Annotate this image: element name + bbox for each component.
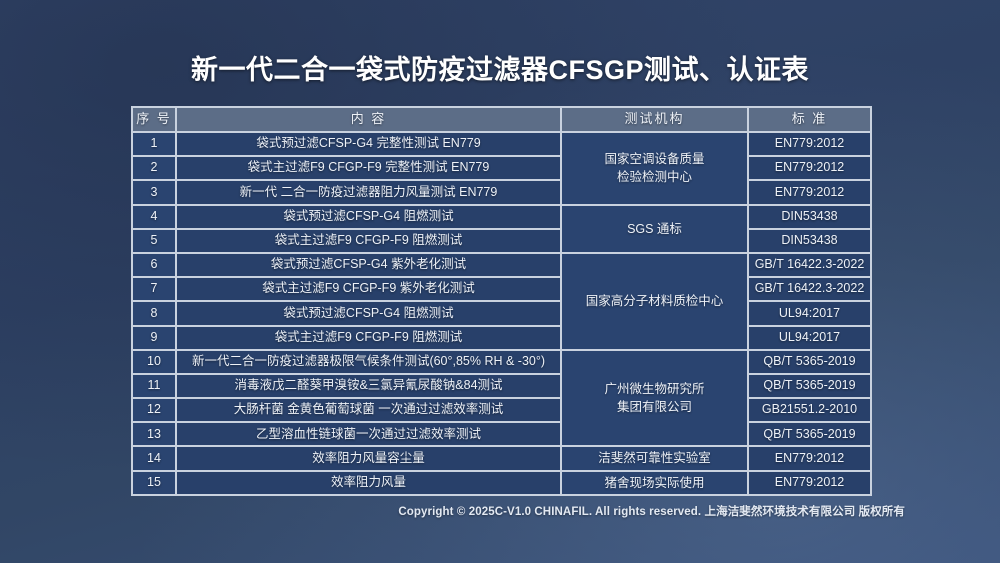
cell-standard: EN779:2012 <box>748 446 871 470</box>
organization-line-1: 国家空调设备质量 <box>604 152 704 166</box>
cell-index: 8 <box>132 301 176 325</box>
cell-standard: DIN53438 <box>748 205 871 229</box>
cell-index: 11 <box>132 374 176 398</box>
organization-line-2: 检验检测中心 <box>617 170 692 184</box>
cell-content: 袋式主过滤F9 CFGP-F9 阻燃测试 <box>176 326 561 350</box>
cell-index: 14 <box>132 446 176 470</box>
column-header-organization: 测试机构 <box>561 107 748 132</box>
organization-line-1: 广州微生物研究所 <box>604 382 704 396</box>
cell-index: 2 <box>132 156 176 180</box>
cell-content: 袋式预过滤CFSP-G4 阻燃测试 <box>176 301 561 325</box>
cell-standard: EN779:2012 <box>748 180 871 204</box>
organization-line-1: SGS 通标 <box>627 222 682 236</box>
table-row: 8袋式预过滤CFSP-G4 阻燃测试UL94:2017 <box>132 301 871 325</box>
cell-organization: 猪舍现场实际使用 <box>561 471 748 495</box>
cell-content: 袋式主过滤F9 CFGP-F9 阻燃测试 <box>176 229 561 253</box>
cell-standard: EN779:2012 <box>748 471 871 495</box>
cell-index: 15 <box>132 471 176 495</box>
table-row: 11消毒液戊二醛葵甲溴铵&三氯异氰尿酸钠&84测试QB/T 5365-2019 <box>132 374 871 398</box>
cell-standard: DIN53438 <box>748 229 871 253</box>
cell-organization: SGS 通标 <box>561 205 748 253</box>
cell-content: 袋式主过滤F9 CFGP-F9 完整性测试 EN779 <box>176 156 561 180</box>
cell-index: 1 <box>132 132 176 156</box>
cell-standard: QB/T 5365-2019 <box>748 374 871 398</box>
cell-index: 9 <box>132 326 176 350</box>
cell-standard: GB21551.2-2010 <box>748 398 871 422</box>
table-row: 5袋式主过滤F9 CFGP-F9 阻燃测试DIN53438 <box>132 229 871 253</box>
cell-index: 6 <box>132 253 176 277</box>
table-row: 3新一代 二合一防疫过滤器阻力风量测试 EN779EN779:2012 <box>132 180 871 204</box>
cell-standard: QB/T 5365-2019 <box>748 422 871 446</box>
cell-content: 新一代二合一防疫过滤器极限气候条件测试(60°,85% RH & -30°) <box>176 350 561 374</box>
column-header-standard: 标 准 <box>748 107 871 132</box>
cell-standard: UL94:2017 <box>748 301 871 325</box>
cell-content: 大肠杆菌 金黄色葡萄球菌 一次通过过滤效率测试 <box>176 398 561 422</box>
cell-organization: 国家空调设备质量检验检测中心 <box>561 132 748 205</box>
organization-line-2: 集团有限公司 <box>617 400 692 414</box>
table-row: 12大肠杆菌 金黄色葡萄球菌 一次通过过滤效率测试GB21551.2-2010 <box>132 398 871 422</box>
cell-index: 12 <box>132 398 176 422</box>
table-row: 4袋式预过滤CFSP-G4 阻燃测试SGS 通标DIN53438 <box>132 205 871 229</box>
cell-content: 袋式主过滤F9 CFGP-F9 紫外老化测试 <box>176 277 561 301</box>
cell-index: 5 <box>132 229 176 253</box>
cell-organization: 洁斐然可靠性实验室 <box>561 446 748 470</box>
copyright-footer: Copyright © 2025C-V1.0 CHINAFIL. All rig… <box>398 503 905 519</box>
column-header-index: 序 号 <box>132 107 176 132</box>
organization-line-1: 洁斐然可靠性实验室 <box>598 451 711 465</box>
certification-table-container: 序 号 内 容 测试机构 标 准 1袋式预过滤CFSP-G4 完整性测试 EN7… <box>131 106 870 496</box>
table-row: 13乙型溶血性链球菌一次通过过滤效率测试QB/T 5365-2019 <box>132 422 871 446</box>
cell-content: 效率阻力风量容尘量 <box>176 446 561 470</box>
organization-line-1: 猪舍现场实际使用 <box>604 476 704 490</box>
certification-table: 序 号 内 容 测试机构 标 准 1袋式预过滤CFSP-G4 完整性测试 EN7… <box>131 106 872 496</box>
cell-standard: UL94:2017 <box>748 326 871 350</box>
column-header-content: 内 容 <box>176 107 561 132</box>
table-header-row: 序 号 内 容 测试机构 标 准 <box>132 107 871 132</box>
cell-standard: GB/T 16422.3-2022 <box>748 277 871 301</box>
cell-index: 10 <box>132 350 176 374</box>
cell-index: 4 <box>132 205 176 229</box>
page-title: 新一代二合一袋式防疫过滤器CFSGP测试、认证表 <box>0 48 1000 87</box>
table-row: 9袋式主过滤F9 CFGP-F9 阻燃测试UL94:2017 <box>132 326 871 350</box>
cell-index: 3 <box>132 180 176 204</box>
table-row: 2袋式主过滤F9 CFGP-F9 完整性测试 EN779EN779:2012 <box>132 156 871 180</box>
cell-content: 袋式预过滤CFSP-G4 完整性测试 EN779 <box>176 132 561 156</box>
organization-line-1: 国家高分子材料质检中心 <box>586 294 724 308</box>
cell-content: 袋式预过滤CFSP-G4 紫外老化测试 <box>176 253 561 277</box>
table-row: 1袋式预过滤CFSP-G4 完整性测试 EN779国家空调设备质量检验检测中心E… <box>132 132 871 156</box>
cell-content: 效率阻力风量 <box>176 471 561 495</box>
cell-organization: 国家高分子材料质检中心 <box>561 253 748 350</box>
slide-background: 新一代二合一袋式防疫过滤器CFSGP测试、认证表 序 号 内 容 测试机构 标 … <box>0 0 1000 563</box>
table-row: 14效率阻力风量容尘量洁斐然可靠性实验室EN779:2012 <box>132 446 871 470</box>
cell-content: 新一代 二合一防疫过滤器阻力风量测试 EN779 <box>176 180 561 204</box>
cell-index: 13 <box>132 422 176 446</box>
table-row: 7袋式主过滤F9 CFGP-F9 紫外老化测试GB/T 16422.3-2022 <box>132 277 871 301</box>
cell-index: 7 <box>132 277 176 301</box>
cell-content: 消毒液戊二醛葵甲溴铵&三氯异氰尿酸钠&84测试 <box>176 374 561 398</box>
cell-content: 袋式预过滤CFSP-G4 阻燃测试 <box>176 205 561 229</box>
table-row: 15效率阻力风量猪舍现场实际使用EN779:2012 <box>132 471 871 495</box>
cell-standard: EN779:2012 <box>748 156 871 180</box>
table-row: 6袋式预过滤CFSP-G4 紫外老化测试国家高分子材料质检中心GB/T 1642… <box>132 253 871 277</box>
cell-standard: QB/T 5365-2019 <box>748 350 871 374</box>
cell-content: 乙型溶血性链球菌一次通过过滤效率测试 <box>176 422 561 446</box>
cell-standard: GB/T 16422.3-2022 <box>748 253 871 277</box>
cell-standard: EN779:2012 <box>748 132 871 156</box>
table-body: 1袋式预过滤CFSP-G4 完整性测试 EN779国家空调设备质量检验检测中心E… <box>132 132 871 495</box>
cell-organization: 广州微生物研究所集团有限公司 <box>561 350 748 447</box>
table-row: 10新一代二合一防疫过滤器极限气候条件测试(60°,85% RH & -30°)… <box>132 350 871 374</box>
